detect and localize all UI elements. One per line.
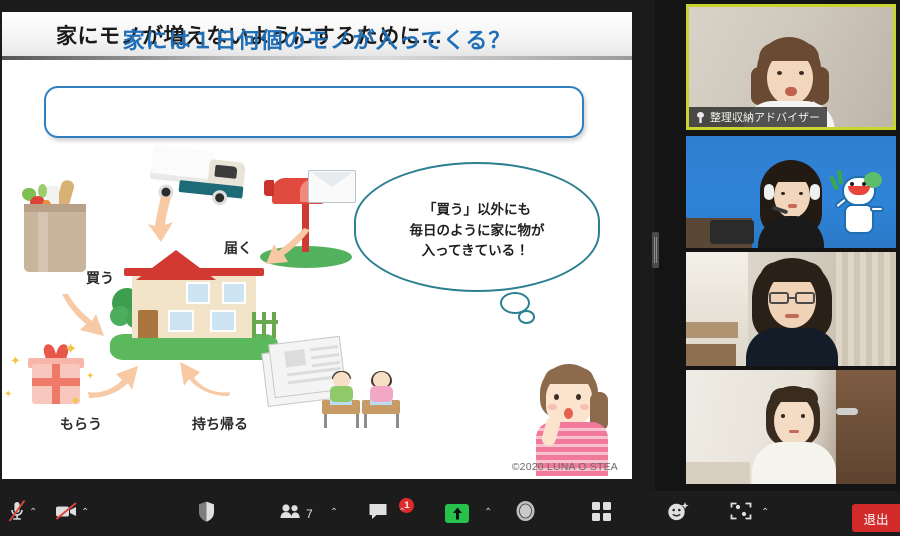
participants-count: 7	[306, 507, 313, 521]
gift-box-icon	[20, 342, 92, 414]
focus-brackets-icon	[730, 501, 752, 526]
participants-options-chevron-icon[interactable]: ⌃	[330, 507, 338, 518]
participants-button[interactable]: 7 ⌃	[278, 491, 340, 536]
grocery-bag-icon	[20, 180, 92, 272]
chat-icon	[368, 502, 388, 526]
mascot-character-icon	[834, 170, 886, 242]
microphone-muted-icon	[8, 499, 26, 528]
envelope-icon	[308, 170, 356, 203]
video-tile-active-speaker[interactable]: 整理収納アドバイザー	[686, 4, 896, 130]
breakout-rooms-button[interactable]	[589, 491, 614, 536]
participant-1-name: 整理収納アドバイザー	[710, 109, 820, 125]
thinking-woman-icon	[526, 364, 618, 476]
participant-1-nametag: 整理収納アドバイザー	[689, 107, 827, 127]
record-circle-icon	[515, 500, 536, 527]
laptop-shape	[710, 220, 754, 244]
arrow-up-left-kids	[180, 352, 230, 396]
headline-box	[44, 86, 584, 138]
share-screen-button[interactable]: ⌃	[443, 491, 494, 536]
video-tile-participant-3[interactable]	[686, 252, 896, 366]
reactions-smiley-icon	[667, 501, 689, 527]
leave-meeting-button[interactable]: 退出	[852, 504, 900, 532]
participant-2-avatar	[752, 160, 830, 248]
participant-4-avatar	[752, 386, 836, 484]
meeting-toolbar: ⌃ ⌃	[0, 491, 900, 536]
video-off-icon	[54, 501, 78, 526]
cabinet-shape	[686, 344, 736, 366]
participants-icon	[280, 503, 302, 524]
mute-button[interactable]: ⌃	[6, 491, 39, 536]
shield-icon	[198, 501, 215, 527]
chat-button[interactable]: 1 ⌃	[366, 491, 408, 536]
shelf-shape	[686, 322, 738, 338]
video-tile-participant-2[interactable]	[686, 136, 896, 248]
arrow-up-right-gift	[88, 354, 138, 398]
leave-meeting-label: 退出	[863, 509, 888, 528]
video-options-chevron-icon[interactable]: ⌃	[81, 507, 89, 518]
presentation-slide[interactable]: 家にモノが増えないようにするために… 家には１日何個のモノが入ってくる？ 買う	[2, 12, 632, 479]
slide-illustration: 買う 届く	[2, 142, 632, 479]
record-button[interactable]	[513, 491, 538, 536]
mute-options-chevron-icon[interactable]: ⌃	[29, 507, 37, 518]
eyeglasses-right	[795, 292, 815, 304]
participant-3-avatar	[744, 258, 840, 366]
more-options-chevron-icon[interactable]: ⌃	[761, 507, 769, 518]
video-filmstrip: 整理収納アドバイザー	[682, 0, 900, 491]
panel-resize-handle[interactable]	[652, 232, 659, 268]
copyright-notice: ©2020 LUNA O STEA	[512, 461, 618, 473]
eyeglasses-left	[769, 292, 789, 304]
arrow-down-left-mailbox	[266, 228, 312, 272]
furniture-shape	[686, 462, 750, 484]
pin-icon	[696, 112, 705, 123]
headset-left-cup	[764, 184, 774, 200]
label-receive: もらう	[60, 414, 102, 434]
share-options-chevron-icon[interactable]: ⌃	[484, 507, 492, 518]
chat-options-chevron-icon[interactable]: ⌃	[398, 507, 406, 518]
shared-screen-region[interactable]: 家にモノが増えないようにするために… 家には１日何個のモノが入ってくる？ 買う	[0, 0, 655, 491]
house-icon	[110, 250, 278, 362]
share-screen-up-arrow-icon	[445, 504, 469, 523]
more-options-button[interactable]: ⌃	[728, 491, 771, 536]
door-handle	[836, 408, 858, 415]
slide-title-divider	[2, 56, 632, 60]
meeting-window: 家にモノが増えないようにするために… 家には１日何個のモノが入ってくる？ 買う	[0, 0, 900, 536]
reactions-button[interactable]	[665, 491, 691, 536]
blinds-shape	[836, 252, 896, 366]
security-button[interactable]	[196, 491, 217, 536]
headline-text: 家には１日何個のモノが入ってくる？	[2, 23, 632, 55]
door-shape	[836, 370, 896, 484]
thought-bubble-dot-small	[518, 310, 535, 324]
breakout-rooms-grid-icon	[591, 501, 612, 527]
thought-bubble-text: 「買う」以外にも 毎日のように家に物が 入ってきている ！	[368, 200, 586, 262]
label-bring-home: 持ち帰る	[192, 414, 248, 434]
school-kids-icon	[322, 370, 408, 434]
arrow-down-truck	[148, 196, 182, 242]
video-button[interactable]: ⌃	[52, 491, 91, 536]
video-tile-participant-4[interactable]	[686, 370, 896, 484]
headset-right-cup	[810, 184, 820, 200]
arrow-down-right-bag	[60, 294, 106, 342]
